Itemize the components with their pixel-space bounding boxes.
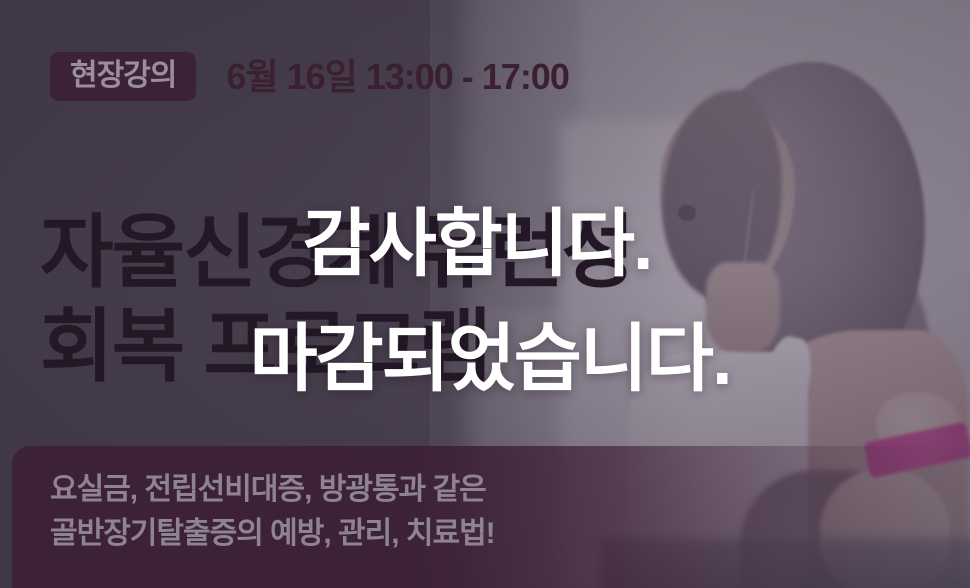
closed-notice: 감사합니다. 마감되었습니다. bbox=[0, 186, 970, 417]
schedule-text: 6월 16일 13:00 - 17:00 bbox=[226, 57, 568, 97]
caption-line-2: 골반장기탈출증의 예방, 관리, 치료법! bbox=[50, 512, 495, 556]
caption-panel: 요실금, 전립선비대증, 방광통과 같은 골반장기탈출증의 예방, 관리, 치료… bbox=[12, 446, 970, 588]
lecture-type-badge: 현장강의 bbox=[50, 52, 196, 101]
seminar-promo-banner: 자율신경계 뉴런성 회복 프로그램 현장강의 6월 16일 13:00 - 17… bbox=[0, 0, 970, 588]
caption-line-1: 요실금, 전립선비대증, 방광통과 같은 bbox=[50, 468, 495, 512]
header-row: 현장강의 6월 16일 13:00 - 17:00 bbox=[50, 52, 569, 101]
closed-notice-line-2: 마감되었습니다. bbox=[10, 301, 970, 416]
caption-text: 요실금, 전립선비대증, 방광통과 같은 골반장기탈출증의 예방, 관리, 치료… bbox=[50, 468, 495, 557]
closed-notice-line-1: 감사합니다. bbox=[0, 186, 970, 301]
